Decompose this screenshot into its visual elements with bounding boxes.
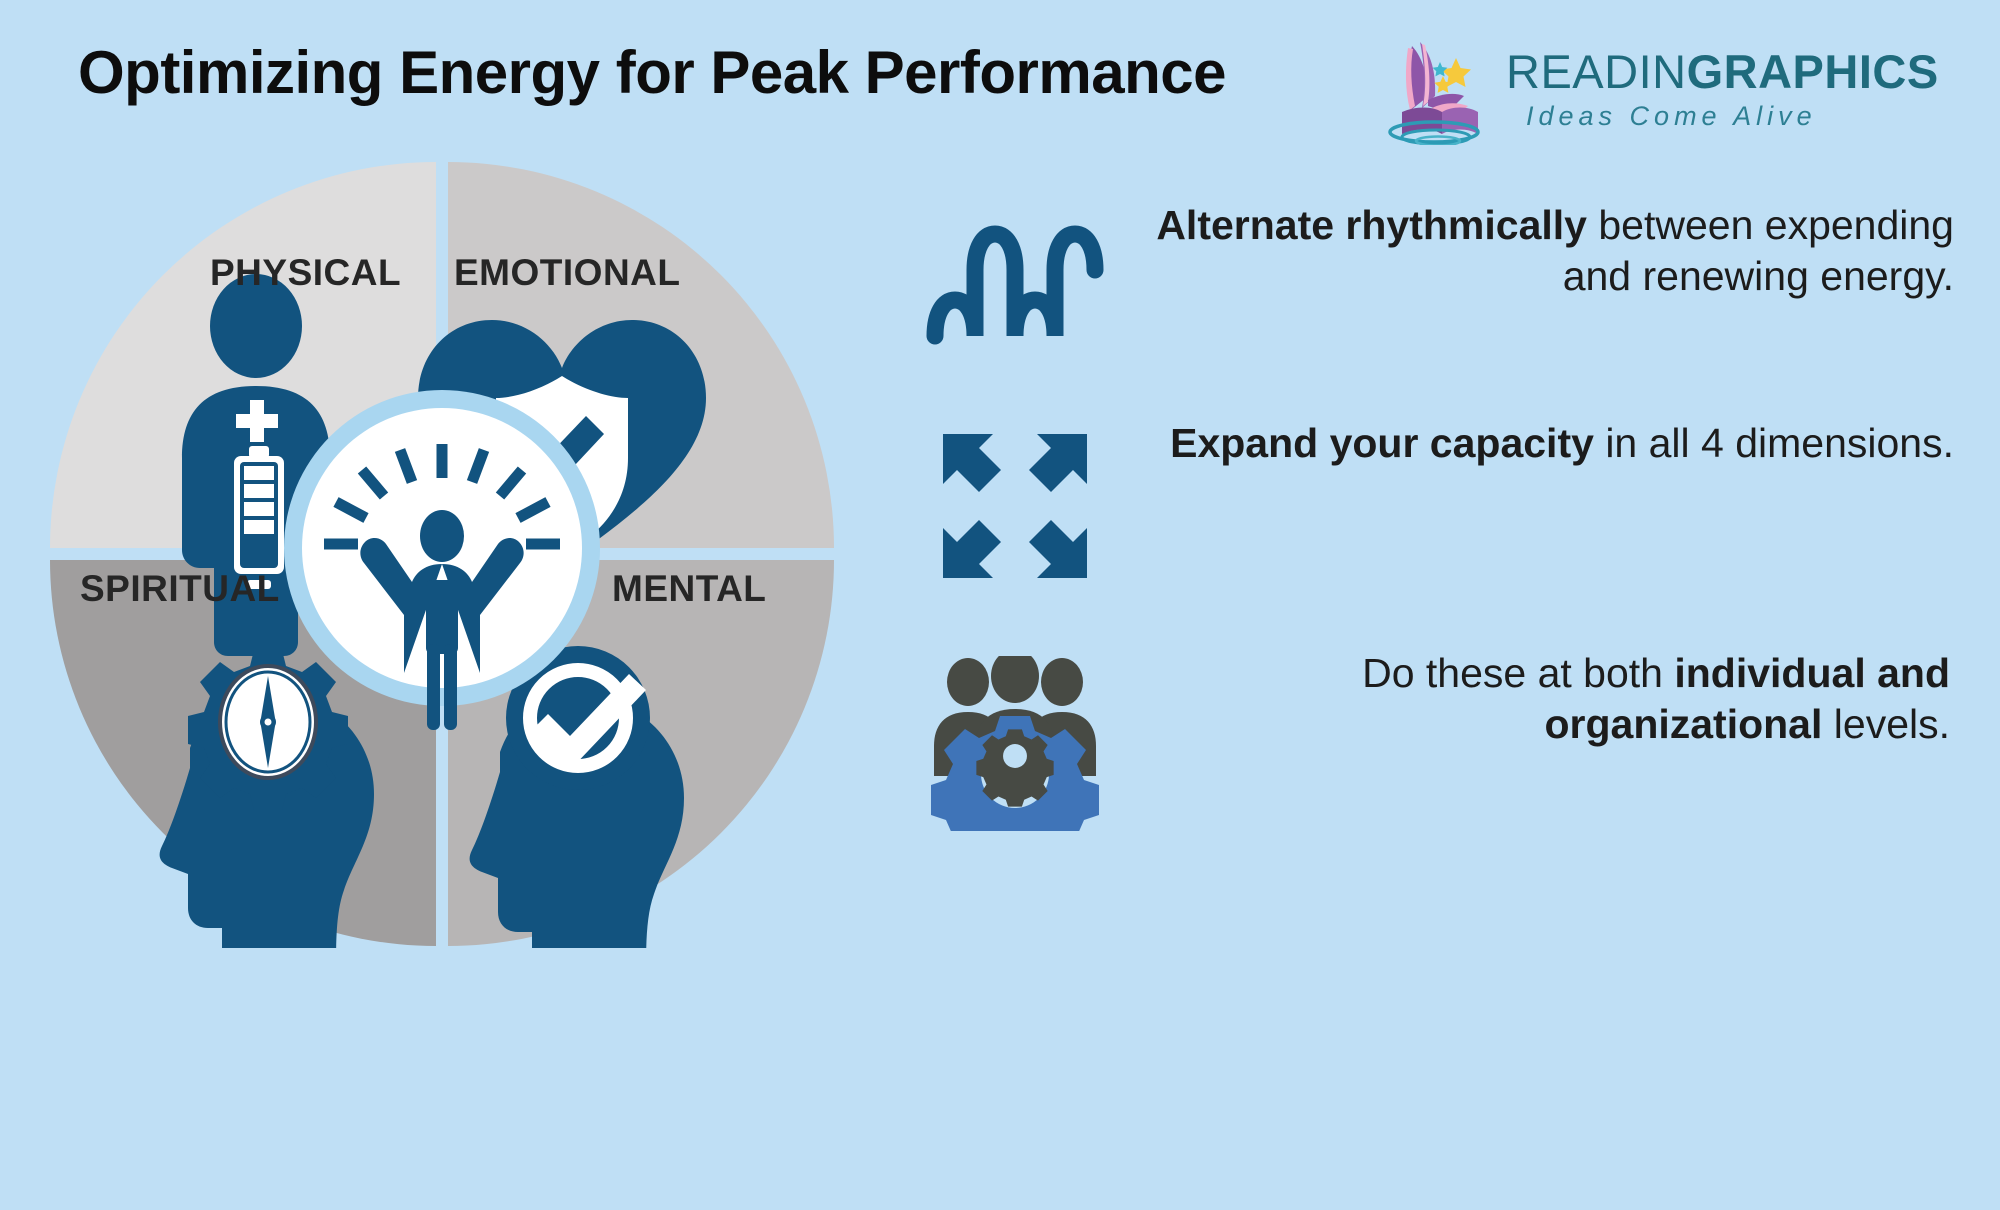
key-point-text-0: Alternate rhythmically between expending… <box>1130 200 1980 302</box>
key-point-rest-1: in all 4 dimensions. <box>1594 420 1954 466</box>
key-point-individual-and-organizational: Do these at both individual and organiza… <box>900 648 1980 831</box>
people-gear-icon <box>920 656 1110 831</box>
wave-rhythm-icon-wrap <box>900 200 1130 358</box>
four-way-expand-arrows-icon-wrap <box>900 418 1130 586</box>
logo-wordmark: READINGRAPHICS <box>1506 44 1939 99</box>
quadrant-label-emotional: EMOTIONAL <box>454 252 680 294</box>
book-butterfly-logo-icon <box>1378 40 1496 145</box>
logo-name-light: READIN <box>1506 45 1687 98</box>
logo-tagline: Ideas Come Alive <box>1526 101 1817 132</box>
four-dimensions-wheel: PHYSICAL EMOTIONAL SPIRITUAL MENTAL <box>42 148 842 948</box>
key-points-list: Alternate rhythmically between expending… <box>900 180 1980 1080</box>
readingraphics-logo: READINGRAPHICS Ideas Come Alive <box>1378 38 1978 148</box>
header: Optimizing Energy for Peak Performance R… <box>0 0 2000 165</box>
key-point-bold-0: Alternate rhythmically <box>1156 202 1587 248</box>
key-point-text-2: Do these at both individual and organiza… <box>1130 648 1980 750</box>
key-point-prefix-2: Do these at both <box>1362 650 1674 696</box>
key-point-rest-0: between expending and renewing energy. <box>1563 202 1954 299</box>
quadrant-label-physical: PHYSICAL <box>210 252 401 294</box>
quadrant-label-spiritual: SPIRITUAL <box>80 568 280 610</box>
people-gear-icon-wrap <box>900 648 1130 831</box>
four-way-expand-arrows-icon <box>935 426 1095 586</box>
key-point-suffix-2: levels. <box>1822 701 1950 747</box>
key-point-alternate-rhythmically: Alternate rhythmically between expending… <box>900 200 1980 358</box>
wheel-diagram <box>42 148 842 948</box>
key-point-bold-1: Expand your capacity <box>1170 420 1594 466</box>
wave-rhythm-icon <box>925 208 1105 358</box>
quadrant-label-mental: MENTAL <box>612 568 766 610</box>
page-title: Optimizing Energy for Peak Performance <box>78 38 1226 107</box>
key-point-expand-capacity: Expand your capacity in all 4 dimensions… <box>900 418 1980 586</box>
key-point-text-1: Expand your capacity in all 4 dimensions… <box>1130 418 1980 469</box>
logo-name-bold: GRAPHICS <box>1687 45 1939 98</box>
